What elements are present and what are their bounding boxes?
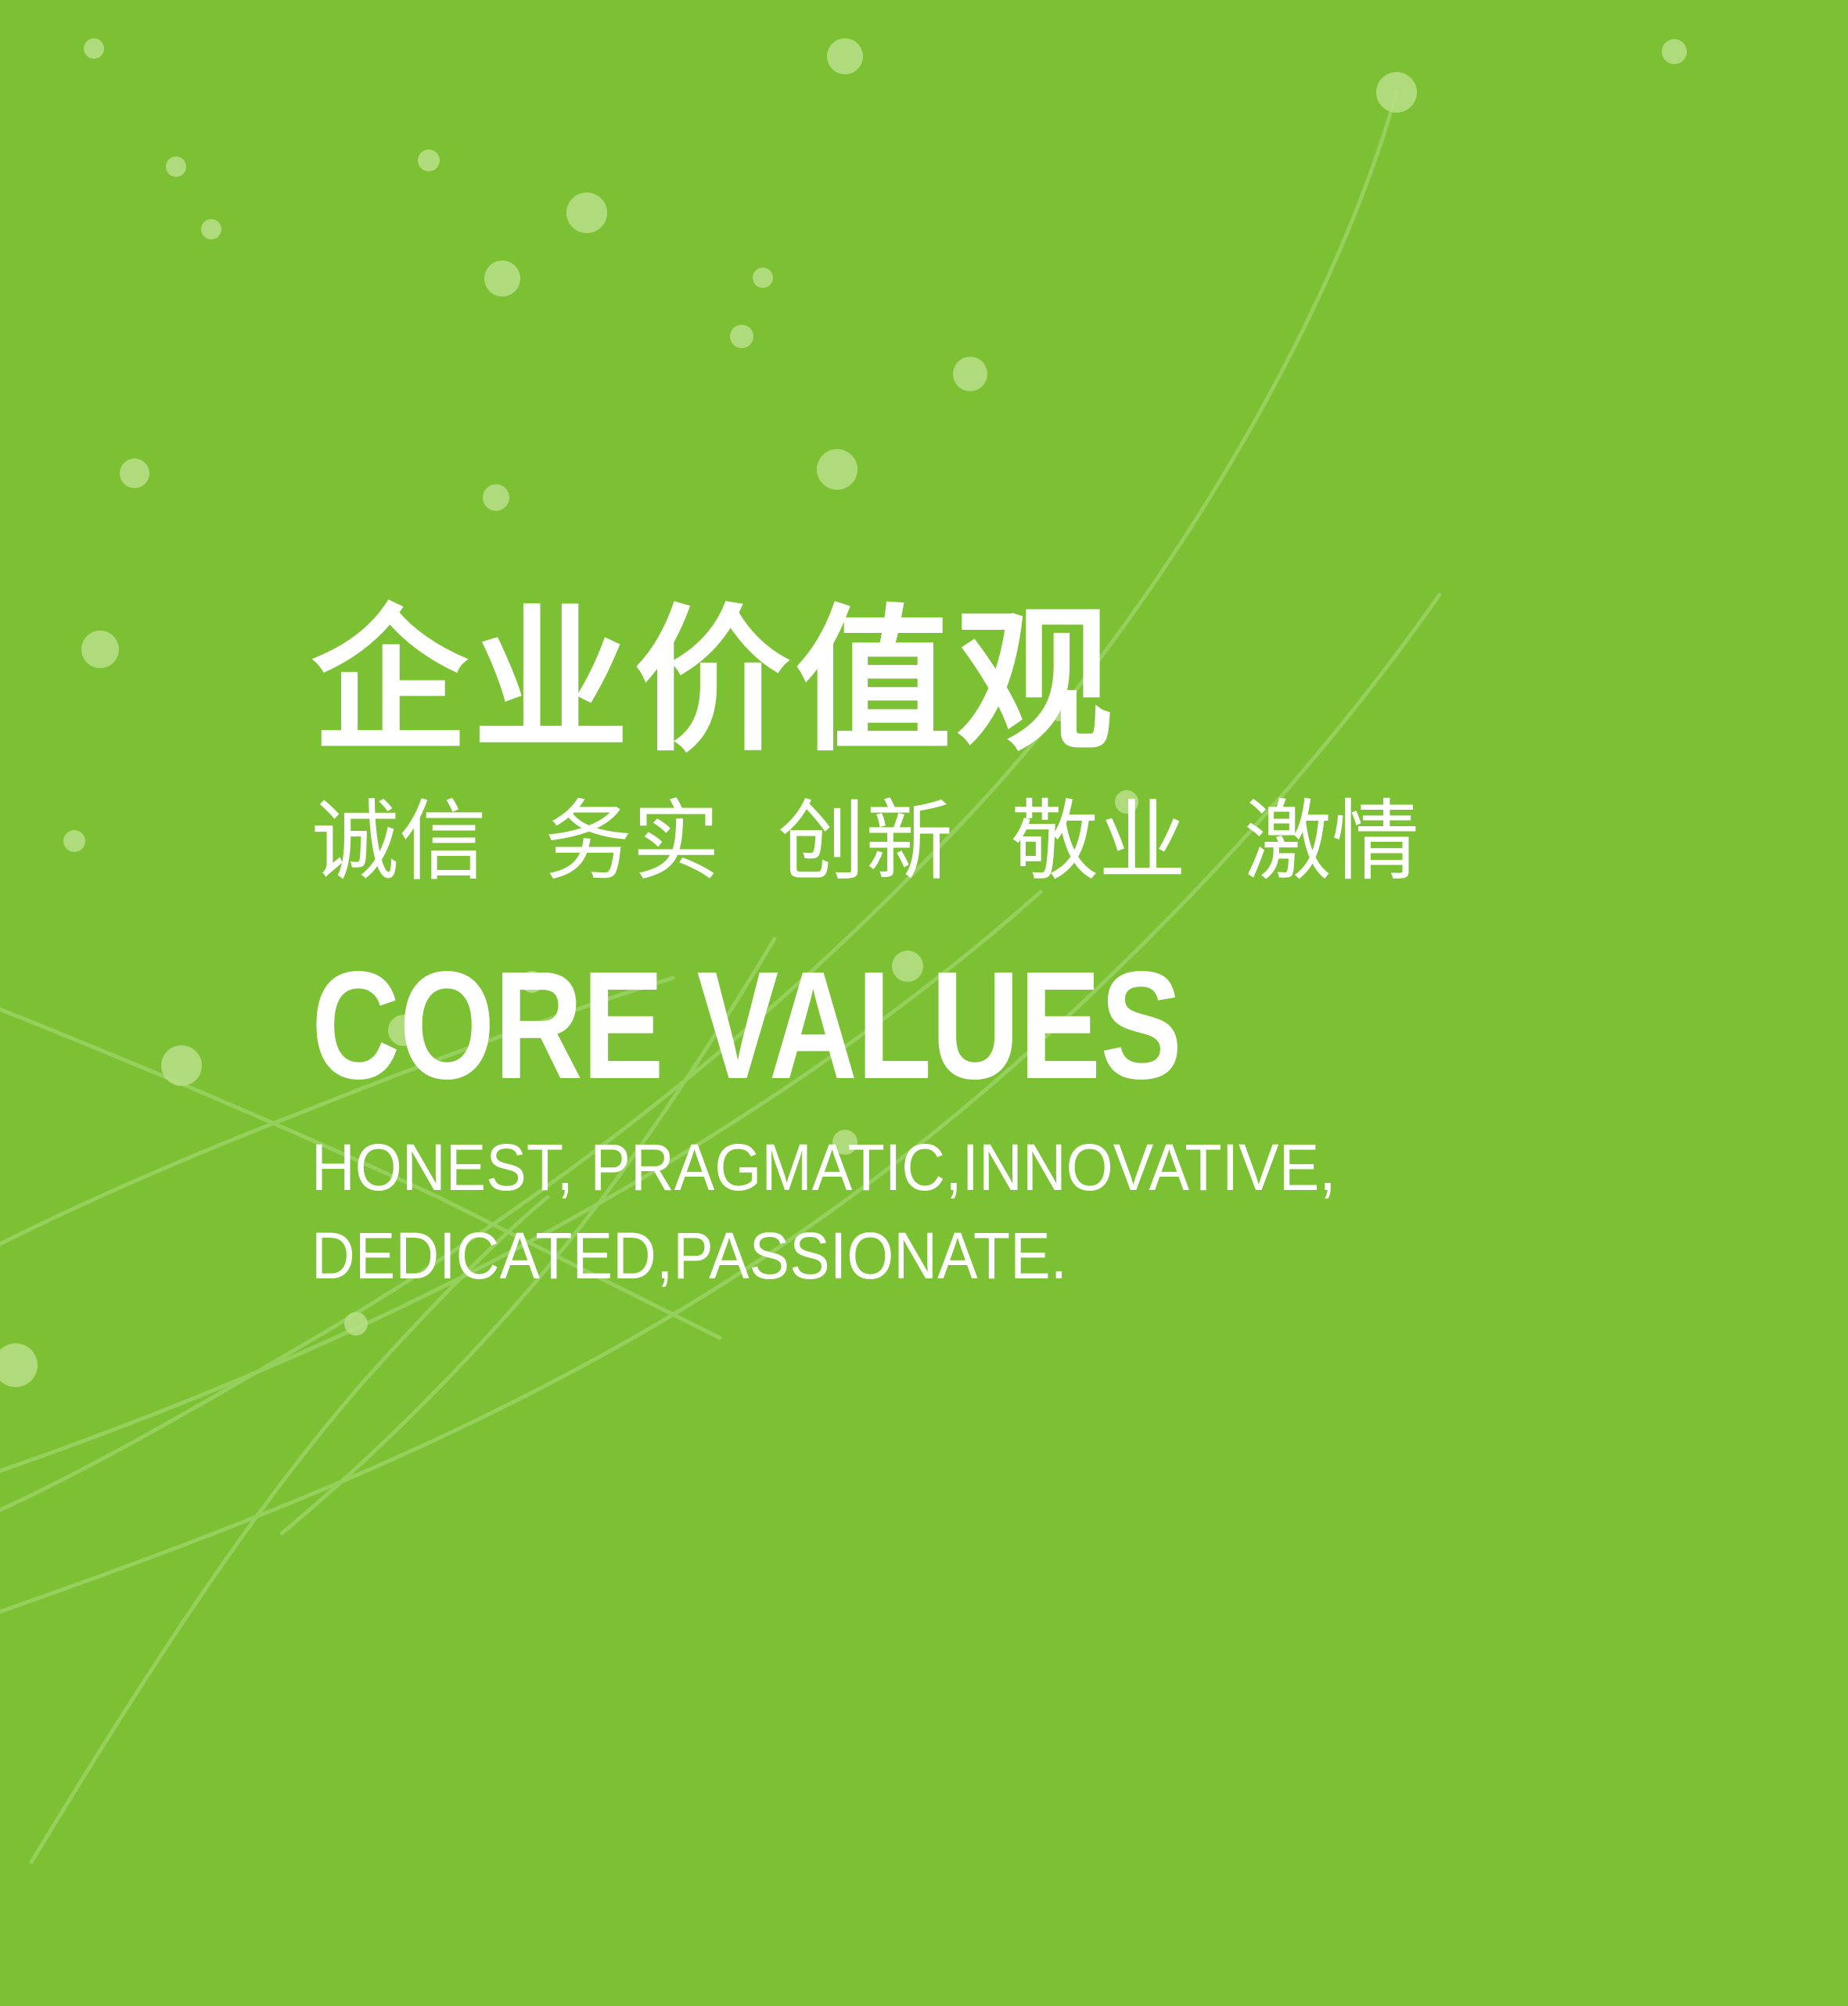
headline-block: 企业价值观 诚信务实创新敬业激情 CORE VALUES HONEST, PRA… bbox=[311, 595, 1681, 1300]
english-values-line-1: HONEST, PRAGMATIC,INNOVATIVE, bbox=[311, 1123, 1571, 1212]
page-title-english: CORE VALUES bbox=[311, 954, 1407, 1097]
chinese-value-word-5: 激情 bbox=[1244, 787, 1419, 897]
chinese-value-word-3: 创新 bbox=[778, 787, 953, 897]
chinese-value-word-2: 务实 bbox=[545, 787, 720, 897]
english-values-line-2: DEDICATED,PASSIONATE. bbox=[311, 1212, 1571, 1300]
english-values-text: HONEST, PRAGMATIC,INNOVATIVE, DEDICATED,… bbox=[311, 1123, 1571, 1300]
chinese-value-word-1: 诚信 bbox=[311, 787, 487, 897]
chinese-value-word-4: 敬业 bbox=[1011, 787, 1186, 897]
chinese-subtitle: 诚信务实创新敬业激情 bbox=[311, 787, 1681, 897]
core-values-poster: 企业价值观 诚信务实创新敬业激情 CORE VALUES HONEST, PRA… bbox=[0, 0, 1848, 2006]
page-title-chinese: 企业价值观 bbox=[311, 595, 1681, 770]
